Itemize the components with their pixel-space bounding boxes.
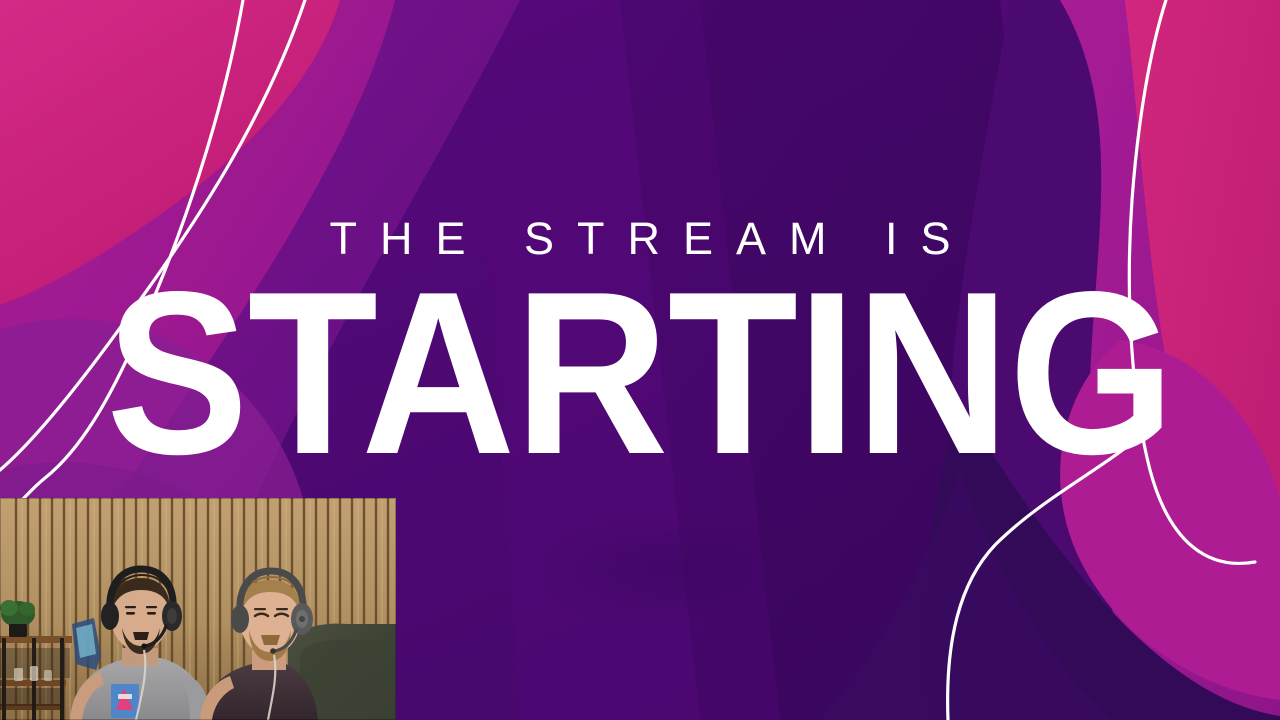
logo-placeholder-plate: [545, 521, 795, 617]
metal-shelf-unit: [0, 636, 72, 720]
stream-starting-screen: THE STREAM IS STARTING: [0, 0, 1280, 720]
person-left-shirt-graphic: [111, 684, 139, 718]
webcam-overlay: [0, 498, 396, 720]
webcam-video-frame: [0, 498, 396, 720]
